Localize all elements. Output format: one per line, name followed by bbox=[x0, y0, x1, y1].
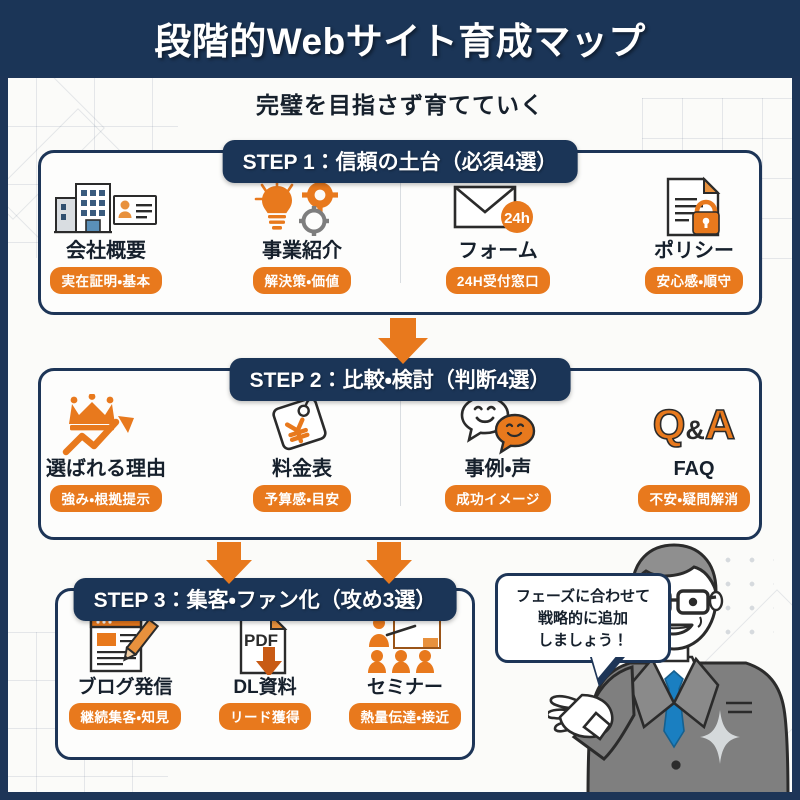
infographic-page: 段階的Webサイト育成マップ 完璧を目指さず育てていく STEP 1：信頼の土台… bbox=[0, 0, 800, 800]
item-reason-chosen[interactable]: 選ばれる理由 強み・根拠提示 bbox=[31, 394, 181, 512]
item-label: 会社概要 bbox=[31, 241, 181, 262]
blog-pencil-icon bbox=[64, 613, 186, 675]
item-pill: 予算感・目安 bbox=[253, 485, 350, 512]
speech-bubbles-smile-icon bbox=[423, 394, 573, 456]
qa-a-letter: A bbox=[705, 401, 735, 448]
item-label: FAQ bbox=[619, 459, 769, 480]
item-pill: 熱量伝達・接近 bbox=[349, 703, 460, 730]
pdf-download-icon: PDF bbox=[204, 613, 326, 675]
arrow-stem bbox=[377, 542, 401, 560]
item-download-material[interactable]: PDF DL資料 リード獲得 bbox=[204, 613, 326, 730]
arrow-head bbox=[206, 560, 252, 584]
item-pill: 継続集客・知見 bbox=[69, 703, 180, 730]
price-tag-yen-icon bbox=[227, 394, 377, 456]
document-lock-icon bbox=[619, 176, 769, 238]
item-pill: 解決策・価値 bbox=[253, 267, 350, 294]
connector-arrow-step1-step2 bbox=[378, 318, 428, 364]
item-label: フォーム bbox=[423, 241, 573, 262]
item-business-intro[interactable]: 事業紹介 解決策・価値 bbox=[227, 176, 377, 294]
step-2-badge: STEP 2：比較・検討（判断4選） bbox=[230, 358, 571, 401]
item-label: 選ばれる理由 bbox=[31, 459, 181, 480]
step-3-badge: STEP 3：集客・ファン化（攻め3選） bbox=[74, 578, 457, 621]
subtitle: 完璧を目指さず育てていく bbox=[8, 86, 792, 120]
page-title: 段階的Webサイト育成マップ bbox=[154, 11, 645, 65]
item-pill: 成功イメージ bbox=[445, 485, 551, 512]
qa-text-icon: Q&A bbox=[619, 394, 769, 456]
item-label: DL資料 bbox=[204, 678, 326, 698]
arrow-stem bbox=[217, 542, 241, 560]
seminar-presenter-icon bbox=[344, 613, 466, 675]
speech-bubble: フェーズに合わせて 戦略的に追加 しましょう！ bbox=[495, 573, 671, 663]
arrow-stem bbox=[390, 318, 416, 338]
crown-growth-arrow-icon bbox=[31, 394, 181, 456]
item-pill: 強み・根拠提示 bbox=[50, 485, 161, 512]
item-pill: 実在証明・基本 bbox=[50, 267, 161, 294]
item-label: ポリシー bbox=[619, 241, 769, 262]
item-pill: 不安・疑問解消 bbox=[638, 485, 749, 512]
speech-bubble-text: フェーズに合わせて 戦略的に追加 しましょう！ bbox=[506, 586, 660, 651]
item-label: セミナー bbox=[344, 678, 466, 698]
speech-bubble-tail-fill bbox=[591, 654, 618, 678]
step-1-items: 会社概要 実在証明・基本 bbox=[8, 176, 792, 294]
item-label: ブログ発信 bbox=[64, 678, 186, 698]
item-pill: リード獲得 bbox=[219, 703, 311, 730]
item-privacy-policy[interactable]: ポリシー 安心感・順守 bbox=[619, 176, 769, 294]
arrow-head bbox=[366, 560, 412, 584]
arrow-head bbox=[378, 338, 428, 364]
header-bar: 段階的Webサイト育成マップ bbox=[0, 0, 800, 76]
item-contact-form[interactable]: 24h フォーム 24H受付窓口 bbox=[423, 176, 573, 294]
item-label: 事業紹介 bbox=[227, 241, 377, 262]
item-blog[interactable]: ブログ発信 継続集客・知見 bbox=[64, 613, 186, 730]
building-id-card-icon bbox=[31, 176, 181, 238]
content-canvas: 完璧を目指さず育てていく STEP 1：信頼の土台（必須4選） bbox=[8, 78, 792, 792]
item-seminar[interactable]: セミナー 熱量伝達・接近 bbox=[344, 613, 466, 730]
qa-q-letter: Q bbox=[653, 401, 686, 448]
svg-text:Q&A: Q&A bbox=[653, 401, 736, 448]
connector-arrow-step2-step3-left bbox=[206, 542, 252, 584]
sparkle-decoration bbox=[700, 710, 740, 764]
step-1-badge: STEP 1：信頼の土台（必須4選） bbox=[223, 140, 578, 183]
qa-ampersand: & bbox=[685, 415, 705, 445]
connector-arrow-step2-step3-right bbox=[366, 542, 412, 584]
item-pricing-table[interactable]: 料金表 予算感・目安 bbox=[227, 394, 377, 512]
item-label: 事例・声 bbox=[423, 459, 573, 480]
step-2-items: 選ばれる理由 強み・根拠提示 bbox=[8, 394, 792, 512]
item-case-studies[interactable]: 事例・声 成功イメージ bbox=[423, 394, 573, 512]
item-company-overview[interactable]: 会社概要 実在証明・基本 bbox=[31, 176, 181, 294]
item-label: 料金表 bbox=[227, 459, 377, 480]
envelope-badge-text: 24h bbox=[504, 210, 530, 227]
envelope-24h-icon: 24h bbox=[423, 176, 573, 238]
item-pill: 24H受付窓口 bbox=[446, 267, 550, 294]
step-3-items: ブログ発信 継続集客・知見 PDF DL資料 リード獲 bbox=[55, 613, 475, 730]
item-faq[interactable]: Q&A FAQ 不安・疑問解消 bbox=[619, 394, 769, 512]
lightbulb-gears-icon bbox=[227, 176, 377, 238]
item-pill: 安心感・順守 bbox=[645, 267, 742, 294]
